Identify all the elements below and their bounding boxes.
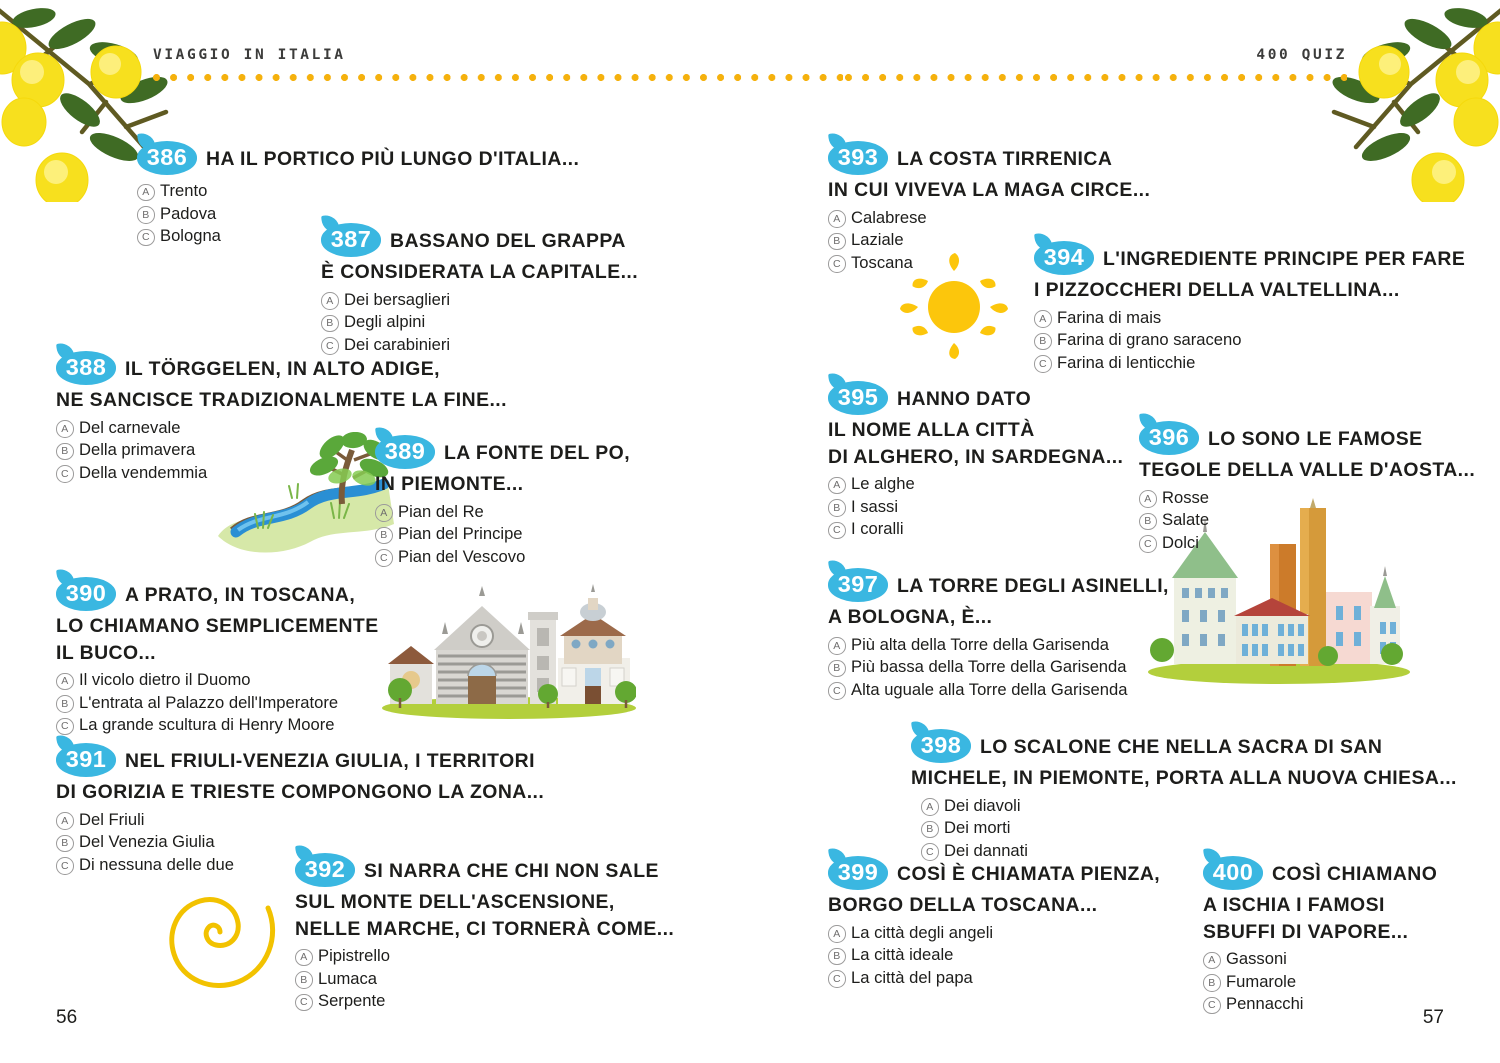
answer-option[interactable]: BFarina di grano saraceno xyxy=(1034,329,1465,352)
option-label: Lumaca xyxy=(318,968,377,991)
option-mark-a: A xyxy=(56,420,74,438)
question-text: COSÌ È CHIAMATA PIENZA, xyxy=(897,863,1160,885)
question-number-badge: 390 xyxy=(56,577,116,611)
header-dotted-rule-right xyxy=(845,74,1347,81)
answer-option[interactable]: CPennacchi xyxy=(1203,993,1437,1016)
option-mark-c: C xyxy=(56,465,74,483)
question-number-badge: 398 xyxy=(911,729,971,763)
option-mark-a: A xyxy=(1203,952,1221,970)
question-text: È CONSIDERATA LA CAPITALE... xyxy=(321,259,638,286)
question-text: SUL MONTE DELL'ASCENSIONE, xyxy=(295,889,674,916)
answer-option[interactable]: BL'entrata al Palazzo dell'Imperatore xyxy=(56,692,379,715)
option-mark-a: A xyxy=(1139,490,1157,508)
option-mark-a: A xyxy=(321,292,339,310)
answer-options: ADei bersaglieri BDegli alpini CDei cara… xyxy=(321,289,638,357)
question-number-badge: 387 xyxy=(321,223,381,257)
answer-option[interactable]: BLa città ideale xyxy=(828,944,1160,967)
question-text: IL NOME ALLA CITTÀ xyxy=(828,417,1123,444)
question-heading: 391NEL FRIULI-VENEZIA GIULIA, I TERRITOR… xyxy=(56,745,544,806)
question-389: 389LA FONTE DEL PO, IN PIEMONTE... APian… xyxy=(375,437,630,568)
question-heading: 398LO SCALONE CHE NELLA SACRA DI SAN MIC… xyxy=(911,731,1457,792)
question-text: SI NARRA CHE CHI NON SALE xyxy=(364,860,659,882)
option-label: Toscana xyxy=(851,252,913,275)
option-mark-c: C xyxy=(295,994,313,1012)
header-dotted-rule-left xyxy=(153,74,843,81)
question-number-badge: 389 xyxy=(375,435,435,469)
option-label: I coralli xyxy=(851,518,904,541)
answer-option[interactable]: BFumarole xyxy=(1203,971,1437,994)
answer-option[interactable]: ARosse xyxy=(1139,487,1475,510)
option-mark-a: A xyxy=(56,812,74,830)
question-text: LA COSTA TIRRENICA xyxy=(897,148,1112,170)
question-text: HA IL PORTICO PIÙ LUNGO D'ITALIA... xyxy=(206,148,579,170)
option-label: Farina di lenticchie xyxy=(1057,352,1195,375)
answer-option[interactable]: ACalabrese xyxy=(828,207,1150,230)
option-label: Bologna xyxy=(160,225,221,248)
page-number-left: 56 xyxy=(56,1007,77,1029)
option-mark-b: B xyxy=(56,835,74,853)
option-mark-c: C xyxy=(1139,535,1157,553)
question-text: IL TÖRGGELEN, IN ALTO ADIGE, xyxy=(125,358,440,380)
option-label: Più bassa della Torre della Garisenda xyxy=(851,656,1127,679)
option-label: Pennacchi xyxy=(1226,993,1304,1016)
question-number-badge: 399 xyxy=(828,856,888,890)
question-text: LO CHIAMANO SEMPLICEMENTE xyxy=(56,613,379,640)
option-mark-b: B xyxy=(921,821,939,839)
snail-spiral-illustration xyxy=(156,876,282,988)
question-number-badge: 388 xyxy=(56,351,116,385)
option-label: Padova xyxy=(160,203,216,226)
option-mark-c: C xyxy=(375,549,393,567)
option-mark-b: B xyxy=(375,527,393,545)
question-392: 392SI NARRA CHE CHI NON SALE SUL MONTE D… xyxy=(295,855,674,1013)
option-mark-a: A xyxy=(828,637,846,655)
answer-option[interactable]: CPian del Vescovo xyxy=(375,546,630,569)
question-396: 396LO SONO LE FAMOSE TEGOLE DELLA VALLE … xyxy=(1139,423,1475,554)
option-label: Dolci xyxy=(1162,532,1199,555)
answer-option[interactable]: BPadova xyxy=(137,203,579,226)
option-label: Farina di grano saraceno xyxy=(1057,329,1241,352)
question-text: IL BUCO... xyxy=(56,640,379,667)
option-mark-a: A xyxy=(921,798,939,816)
option-label: Pian del Re xyxy=(398,501,484,524)
option-mark-c: C xyxy=(56,857,74,875)
option-mark-b: B xyxy=(56,443,74,461)
option-label: Farina di mais xyxy=(1057,307,1161,330)
question-text: COSÌ CHIAMANO xyxy=(1272,863,1437,885)
option-mark-a: A xyxy=(828,925,846,943)
option-label: Pian del Principe xyxy=(398,523,523,546)
option-label: Alta uguale alla Torre della Garisenda xyxy=(851,679,1127,702)
question-text: NE SANCISCE TRADIZIONALMENTE LA FINE... xyxy=(56,387,507,414)
page-number-right: 57 xyxy=(1423,1007,1444,1029)
option-mark-b: B xyxy=(321,315,339,333)
question-text: I PIZZOCCHERI DELLA VALTELLINA... xyxy=(1034,277,1465,304)
option-mark-b: B xyxy=(828,948,846,966)
option-mark-c: C xyxy=(828,255,846,273)
answer-option[interactable]: ALe alghe xyxy=(828,473,1123,496)
quiz-spread: VIAGGIO IN ITALIA 400 QUIZ 386HA IL PORT… xyxy=(0,0,1500,1063)
question-394: 394L'INGREDIENTE PRINCIPE PER FARE I PIZ… xyxy=(1034,243,1465,374)
question-number-badge: 386 xyxy=(137,141,197,175)
header-right-label: 400 QUIZ xyxy=(1256,47,1347,63)
question-text: IN PIEMONTE... xyxy=(375,471,630,498)
answer-options: ARosse BSalate CDolci xyxy=(1139,487,1475,555)
option-mark-b: B xyxy=(1139,513,1157,531)
question-heading: 396LO SONO LE FAMOSE TEGOLE DELLA VALLE … xyxy=(1139,423,1475,484)
option-label: La grande scultura di Henry Moore xyxy=(79,714,335,737)
question-399: 399COSÌ È CHIAMATA PIENZA, BORGO DELLA T… xyxy=(828,858,1160,989)
option-mark-a: A xyxy=(56,673,74,691)
answer-options: APian del Re BPian del Principe CPian de… xyxy=(375,501,630,569)
answer-option[interactable]: ADel carnevale xyxy=(56,417,507,440)
question-text: DI GORIZIA E TRIESTE COMPONGONO LA ZONA.… xyxy=(56,779,544,806)
option-mark-c: C xyxy=(56,718,74,736)
option-label: Degli alpini xyxy=(344,311,425,334)
question-number-badge: 397 xyxy=(828,568,888,602)
option-label: Dei morti xyxy=(944,817,1010,840)
option-label: L'entrata al Palazzo dell'Imperatore xyxy=(79,692,338,715)
question-heading: 390A PRATO, IN TOSCANA, LO CHIAMANO SEMP… xyxy=(56,579,379,666)
question-398: 398LO SCALONE CHE NELLA SACRA DI SAN MIC… xyxy=(911,731,1457,862)
question-text: BASSANO DEL GRAPPA xyxy=(390,230,626,252)
option-label: Del Venezia Giulia xyxy=(79,831,215,854)
question-number-badge: 395 xyxy=(828,381,888,415)
question-text: LO SCALONE CHE NELLA SACRA DI SAN xyxy=(980,736,1382,758)
question-400: 400COSÌ CHIAMANO A ISCHIA I FAMOSI SBUFF… xyxy=(1203,858,1437,1016)
question-text: IN CUI VIVEVA LA MAGA CIRCE... xyxy=(828,177,1150,204)
answer-options: AGassoni BFumarole CPennacchi xyxy=(1203,948,1437,1016)
question-text: MICHELE, IN PIEMONTE, PORTA ALLA NUOVA C… xyxy=(911,765,1457,792)
question-text: A ISCHIA I FAMOSI xyxy=(1203,892,1437,919)
answer-option[interactable]: CLa città del papa xyxy=(828,967,1160,990)
answer-option[interactable]: BDei morti xyxy=(921,817,1457,840)
question-397: 397LA TORRE DEGLI ASINELLI, A BOLOGNA, È… xyxy=(828,570,1169,701)
answer-options: AIl vicolo dietro il Duomo BL'entrata al… xyxy=(56,669,379,737)
option-label: Dei bersaglieri xyxy=(344,289,450,312)
prato-cathedral-illustration xyxy=(382,572,636,720)
option-label: Pian del Vescovo xyxy=(398,546,525,569)
answer-option[interactable]: BPian del Principe xyxy=(375,523,630,546)
question-text: DI ALGHERO, IN SARDEGNA... xyxy=(828,444,1123,471)
option-label: Della vendemmia xyxy=(79,462,207,485)
option-mark-b: B xyxy=(56,695,74,713)
question-number-badge: 391 xyxy=(56,743,116,777)
question-text: LA TORRE DEGLI ASINELLI, xyxy=(897,575,1169,597)
option-label: Del Friuli xyxy=(79,809,144,832)
option-mark-c: C xyxy=(828,970,846,988)
question-heading: 394L'INGREDIENTE PRINCIPE PER FARE I PIZ… xyxy=(1034,243,1465,304)
answer-option[interactable]: AGassoni xyxy=(1203,948,1437,971)
option-mark-a: A xyxy=(375,504,393,522)
answer-option[interactable]: BSalate xyxy=(1139,509,1475,532)
answer-option[interactable]: ATrento xyxy=(137,180,579,203)
option-label: Della primavera xyxy=(79,439,195,462)
answer-option[interactable]: CFarina di lenticchie xyxy=(1034,352,1465,375)
option-label: Il vicolo dietro il Duomo xyxy=(79,669,251,692)
option-mark-a: A xyxy=(828,210,846,228)
question-heading: 387BASSANO DEL GRAPPA È CONSIDERATA LA C… xyxy=(321,225,638,286)
option-label: Pipistrello xyxy=(318,945,390,968)
option-mark-b: B xyxy=(295,971,313,989)
answer-option[interactable]: CSerpente xyxy=(295,990,674,1013)
answer-option[interactable]: CAlta uguale alla Torre della Garisenda xyxy=(828,679,1169,702)
answer-option[interactable]: BLumaca xyxy=(295,968,674,991)
answer-option[interactable]: APian del Re xyxy=(375,501,630,524)
question-390: 390A PRATO, IN TOSCANA, LO CHIAMANO SEMP… xyxy=(56,579,379,737)
answer-option[interactable]: AFarina di mais xyxy=(1034,307,1465,330)
question-text: TEGOLE DELLA VALLE D'AOSTA... xyxy=(1139,457,1475,484)
question-number-badge: 400 xyxy=(1203,856,1263,890)
option-label: Salate xyxy=(1162,509,1209,532)
option-label: Di nessuna delle due xyxy=(79,854,234,877)
answer-option[interactable]: ADei bersaglieri xyxy=(321,289,638,312)
answer-options: AFarina di mais BFarina di grano saracen… xyxy=(1034,307,1465,375)
question-text: HANNO DATO xyxy=(897,388,1031,410)
option-label: Più alta della Torre della Garisenda xyxy=(851,634,1109,657)
question-heading: 397LA TORRE DEGLI ASINELLI, A BOLOGNA, È… xyxy=(828,570,1169,631)
option-label: Trento xyxy=(160,180,207,203)
question-text: L'INGREDIENTE PRINCIPE PER FARE xyxy=(1103,248,1465,270)
answer-option[interactable]: CLa grande scultura di Henry Moore xyxy=(56,714,379,737)
question-387: 387BASSANO DEL GRAPPA È CONSIDERATA LA C… xyxy=(321,225,638,356)
answer-option[interactable]: APiù alta della Torre della Garisenda xyxy=(828,634,1169,657)
answer-options: APiù alta della Torre della Garisenda BP… xyxy=(828,634,1169,702)
answer-option[interactable]: ALa città degli angeli xyxy=(828,922,1160,945)
answer-option[interactable]: BPiù bassa della Torre della Garisenda xyxy=(828,656,1169,679)
option-label: La città del papa xyxy=(851,967,973,990)
answer-option[interactable]: BDegli alpini xyxy=(321,311,638,334)
lemon-branch-top-right-icon xyxy=(1276,0,1500,202)
answer-option[interactable]: ADei diavoli xyxy=(921,795,1457,818)
question-heading: 386HA IL PORTICO PIÙ LUNGO D'ITALIA... xyxy=(137,143,579,177)
answer-option[interactable]: ADel Friuli xyxy=(56,809,544,832)
option-label: Fumarole xyxy=(1226,971,1296,994)
option-mark-c: C xyxy=(1203,997,1221,1015)
question-text: SBUFFI DI VAPORE... xyxy=(1203,919,1437,946)
question-text: NELLE MARCHE, CI TORNERÀ COME... xyxy=(295,916,674,943)
option-mark-a: A xyxy=(1034,310,1052,328)
option-label: Dei diavoli xyxy=(944,795,1021,818)
header-left-label: VIAGGIO IN ITALIA xyxy=(153,47,346,63)
question-395: 395HANNO DATO IL NOME ALLA CITTÀ DI ALGH… xyxy=(828,383,1123,541)
question-heading: 400COSÌ CHIAMANO A ISCHIA I FAMOSI SBUFF… xyxy=(1203,858,1437,945)
option-mark-b: B xyxy=(1034,333,1052,351)
question-number-badge: 393 xyxy=(828,141,888,175)
answer-options: APipistrello BLumaca CSerpente xyxy=(295,945,674,1013)
option-mark-a: A xyxy=(828,477,846,495)
question-number-badge: 394 xyxy=(1034,241,1094,275)
question-heading: 388IL TÖRGGELEN, IN ALTO ADIGE, NE SANCI… xyxy=(56,353,507,414)
answer-option[interactable]: BI sassi xyxy=(828,496,1123,519)
question-text: BORGO DELLA TOSCANA... xyxy=(828,892,1160,919)
option-mark-a: A xyxy=(295,949,313,967)
question-text: LA FONTE DEL PO, xyxy=(444,442,630,464)
option-mark-c: C xyxy=(1034,355,1052,373)
answer-option[interactable]: AIl vicolo dietro il Duomo xyxy=(56,669,379,692)
option-mark-b: B xyxy=(137,206,155,224)
option-label: Serpente xyxy=(318,990,385,1013)
option-label: Laziale xyxy=(851,229,904,252)
answer-option[interactable]: CI coralli xyxy=(828,518,1123,541)
option-mark-b: B xyxy=(828,499,846,517)
question-heading: 399COSÌ È CHIAMATA PIENZA, BORGO DELLA T… xyxy=(828,858,1160,919)
question-heading: 392SI NARRA CHE CHI NON SALE SUL MONTE D… xyxy=(295,855,674,942)
answer-option[interactable]: CDolci xyxy=(1139,532,1475,555)
answer-options: ALe alghe BI sassi CI coralli xyxy=(828,473,1123,541)
question-heading: 393LA COSTA TIRRENICA IN CUI VIVEVA LA M… xyxy=(828,143,1150,204)
question-text: LO SONO LE FAMOSE xyxy=(1208,428,1423,450)
option-label: La città degli angeli xyxy=(851,922,993,945)
option-label: Rosse xyxy=(1162,487,1209,510)
option-label: Calabrese xyxy=(851,207,927,230)
option-mark-a: A xyxy=(137,184,155,202)
question-text: NEL FRIULI-VENEZIA GIULIA, I TERRITORI xyxy=(125,750,535,772)
option-mark-c: C xyxy=(137,229,155,247)
option-mark-b: B xyxy=(828,233,846,251)
option-label: La città ideale xyxy=(851,944,953,967)
option-label: Le alghe xyxy=(851,473,915,496)
option-label: Del carnevale xyxy=(79,417,180,440)
option-label: Gassoni xyxy=(1226,948,1287,971)
question-heading: 389LA FONTE DEL PO, IN PIEMONTE... xyxy=(375,437,630,498)
option-label: I sassi xyxy=(851,496,898,519)
option-mark-b: B xyxy=(828,660,846,678)
question-number-badge: 396 xyxy=(1139,421,1199,455)
answer-option[interactable]: APipistrello xyxy=(295,945,674,968)
option-mark-c: C xyxy=(828,682,846,700)
option-mark-c: C xyxy=(828,522,846,540)
answer-options: ALa città degli angeli BLa città ideale … xyxy=(828,922,1160,990)
question-number-badge: 392 xyxy=(295,853,355,887)
question-text: A PRATO, IN TOSCANA, xyxy=(125,584,355,606)
option-mark-b: B xyxy=(1203,974,1221,992)
question-heading: 395HANNO DATO IL NOME ALLA CITTÀ DI ALGH… xyxy=(828,383,1123,470)
answer-options: ADei diavoli BDei morti CDei dannati xyxy=(921,795,1457,863)
question-text: A BOLOGNA, È... xyxy=(828,604,1169,631)
